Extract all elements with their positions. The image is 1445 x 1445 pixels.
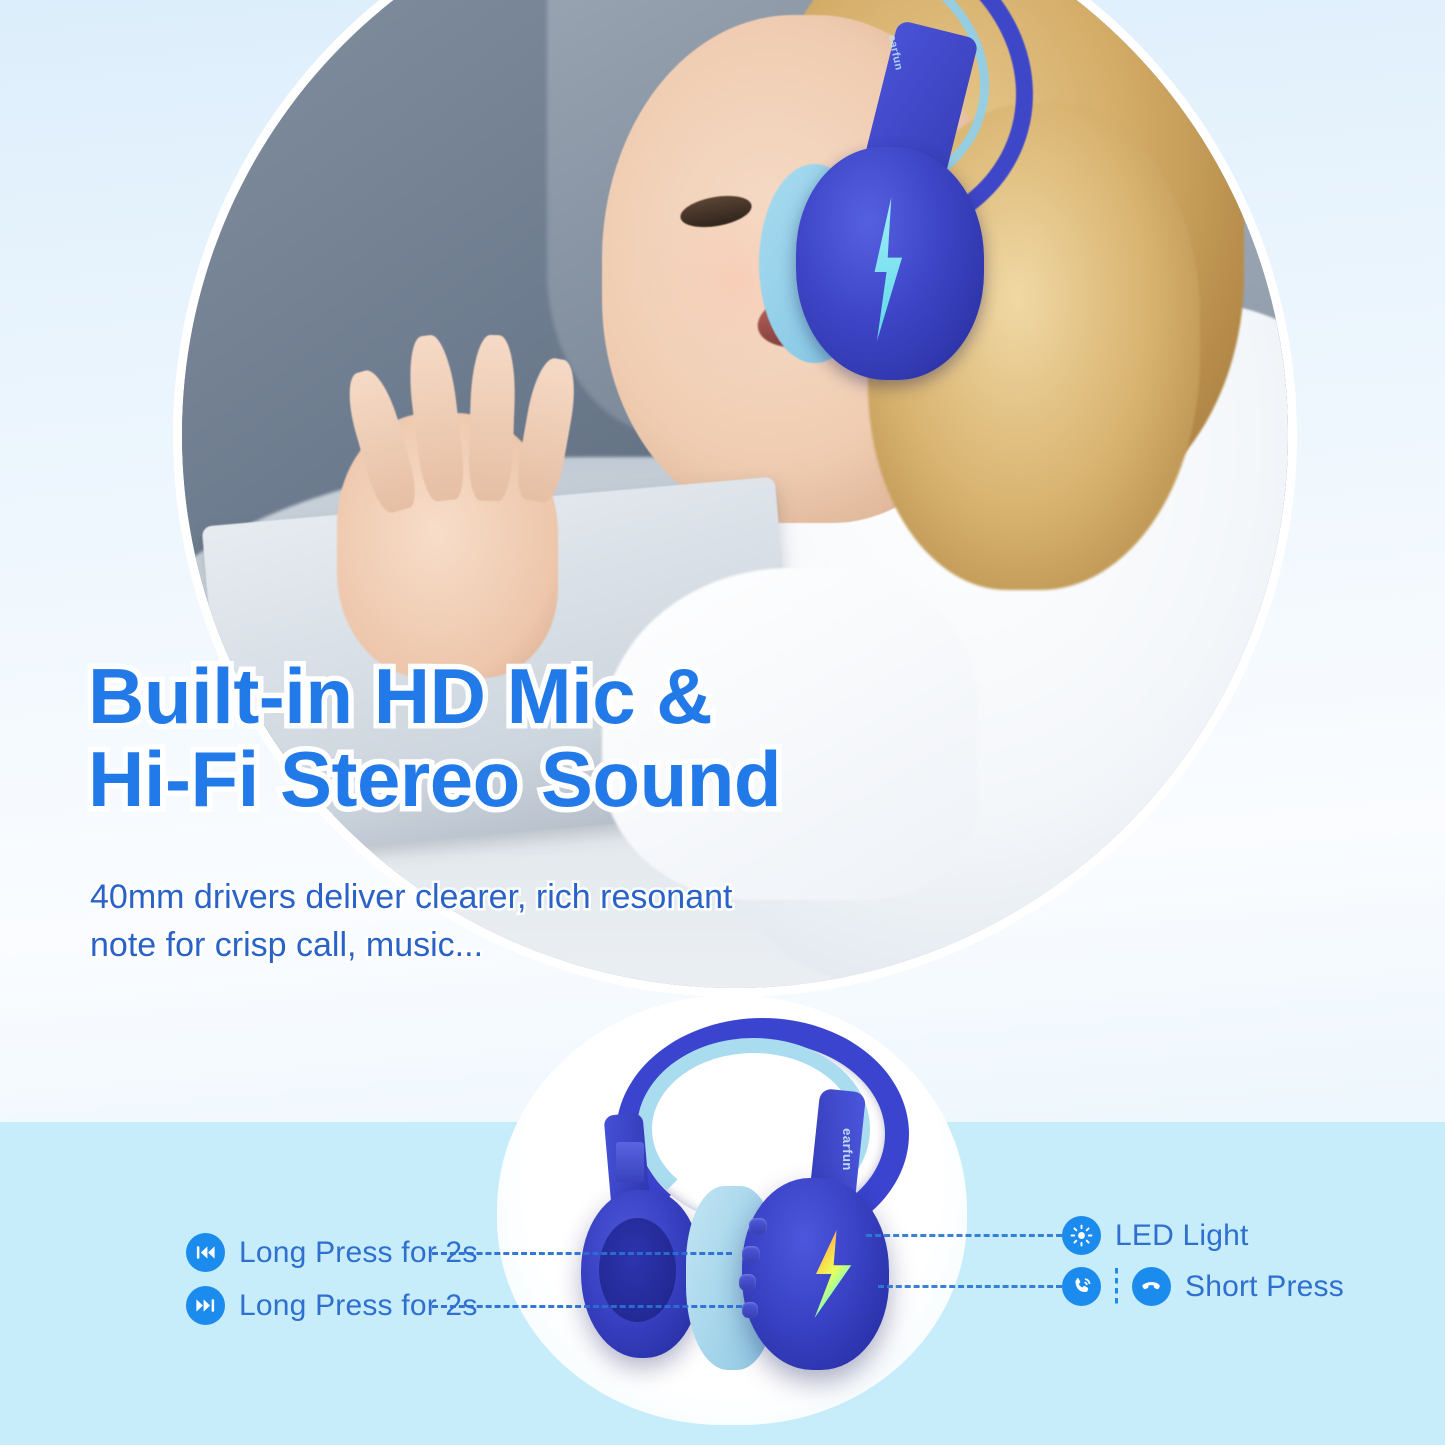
next-track-icon [186, 1286, 225, 1325]
subtitle-line-1: 40mm drivers deliver clearer, rich reson… [90, 873, 910, 921]
callout-led-light[interactable]: LED Light [1062, 1216, 1249, 1255]
led-light-icon [1062, 1216, 1101, 1255]
headline: Built-in HD Mic & Hi-Fi Stereo Sound [88, 655, 968, 822]
product-button [742, 1302, 758, 1318]
leader-line-left-2 [432, 1305, 742, 1308]
subtitle: 40mm drivers deliver clearer, rich reson… [90, 873, 910, 970]
answer-call-icon [1062, 1267, 1101, 1306]
callout-label: Long Press for 2s [239, 1289, 478, 1323]
callout-next-track[interactable]: Long Press for 2s [186, 1286, 478, 1325]
subtitle-line-2: note for crisp call, music... [90, 921, 910, 969]
callout-short-press[interactable]: Short Press [1062, 1267, 1344, 1306]
headline-line-1: Built-in HD Mic & [88, 655, 968, 738]
callout-previous-track[interactable]: Long Press for 2s [186, 1233, 478, 1272]
product-headphones: earfun [560, 1010, 910, 1410]
product-button [749, 1218, 767, 1235]
hero-photo-circle: earfun [182, 0, 1288, 988]
product-brand-logo: earfun [840, 1128, 855, 1171]
headline-line-2: Hi-Fi Stereo Sound [88, 738, 968, 821]
end-call-icon [1132, 1267, 1171, 1306]
previous-track-icon [186, 1233, 225, 1272]
callout-label: Short Press [1185, 1270, 1344, 1304]
leader-line-right-1 [866, 1234, 1062, 1237]
icon-divider [1115, 1268, 1118, 1306]
product-button [739, 1274, 757, 1291]
leader-line-right-2 [878, 1285, 1062, 1288]
product-banner: earfun Built-in HD Mic & Hi-Fi Stereo So… [0, 0, 1445, 1445]
callout-label: Long Press for 2s [239, 1236, 478, 1270]
callout-label: LED Light [1115, 1219, 1249, 1253]
product-slider-adjuster [616, 1142, 644, 1182]
product-button [742, 1246, 760, 1263]
